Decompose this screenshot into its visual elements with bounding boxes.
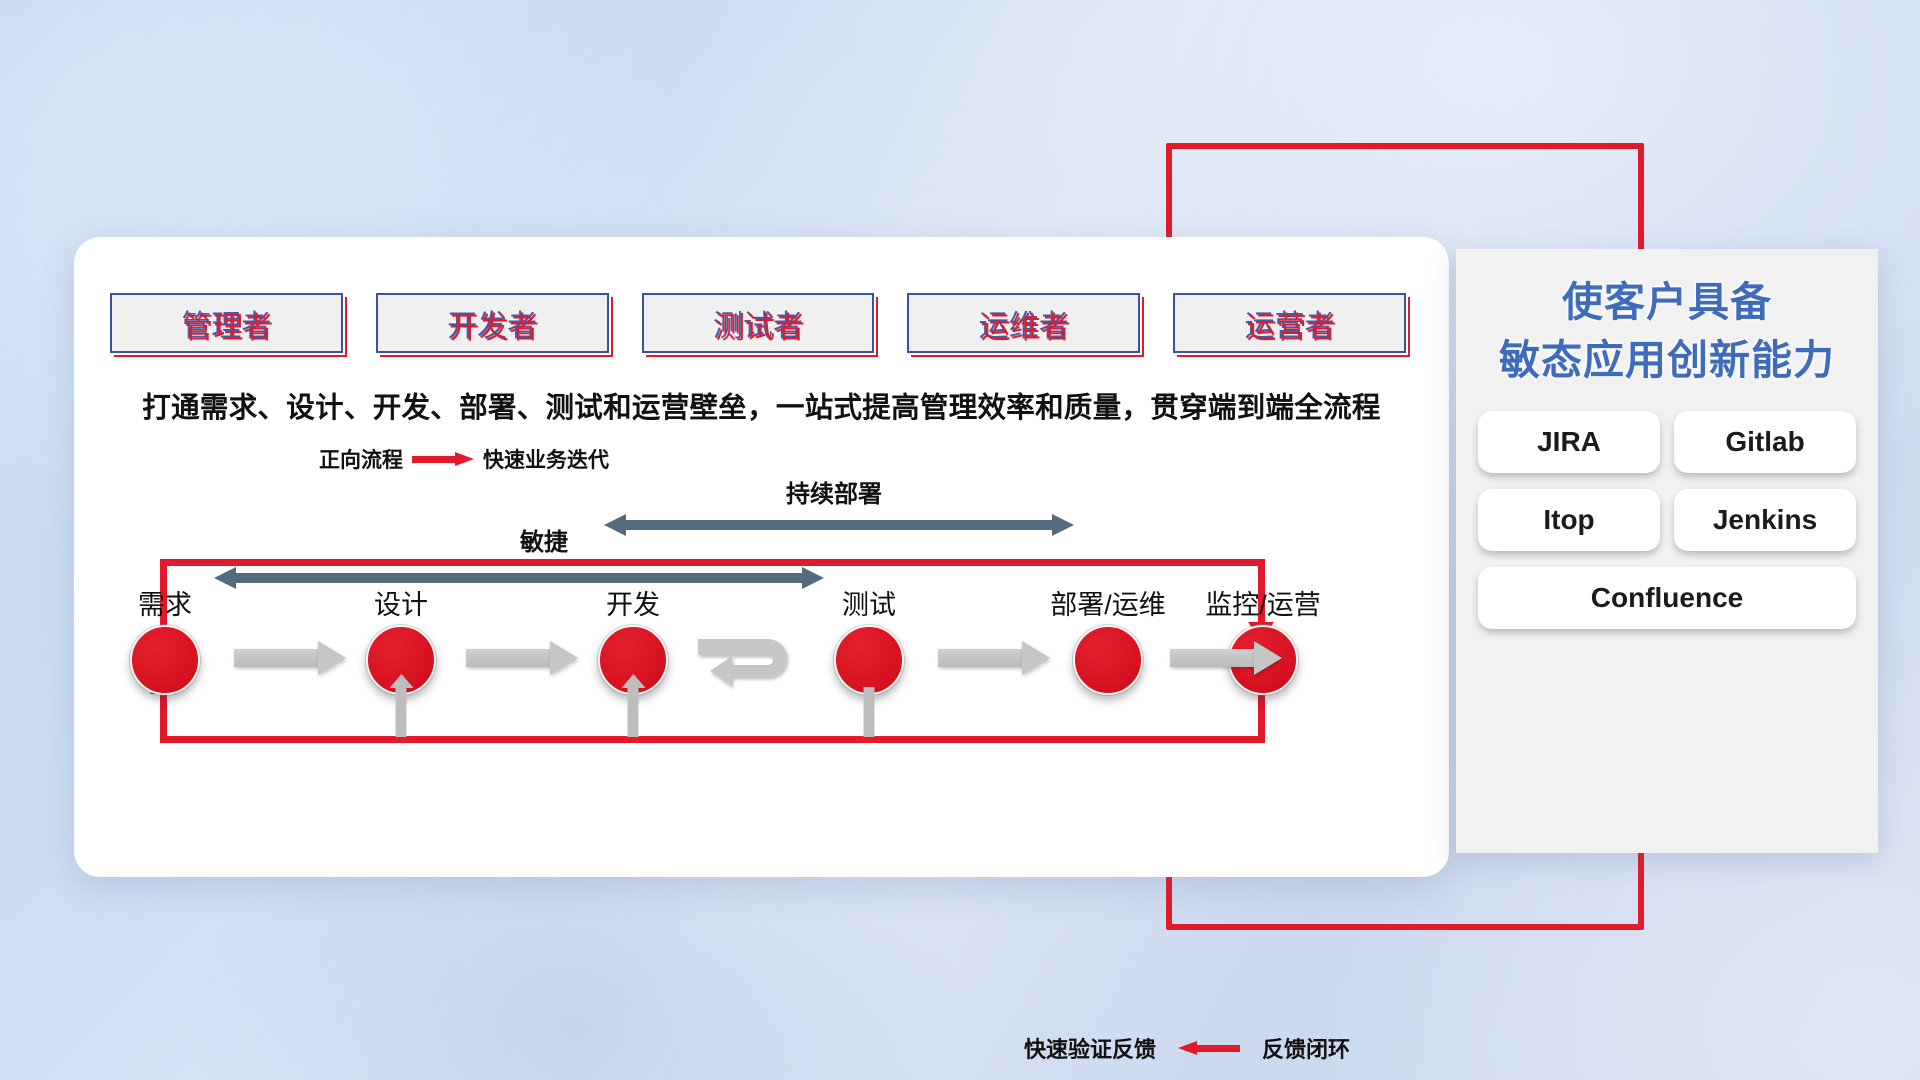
stage-deploy-ops[interactable]: 部署/运维 xyxy=(1073,625,1143,695)
stage-dot xyxy=(1073,625,1143,695)
tool-chip-itop[interactable]: Itop xyxy=(1478,489,1660,551)
panel-headline-line2: 敏态应用创新能力 xyxy=(1456,331,1878,389)
stage-testing[interactable]: 测试 xyxy=(834,625,904,695)
stage-label: 监控/运营 xyxy=(1205,583,1321,622)
stage-requirement[interactable]: 需求 xyxy=(130,625,200,695)
stage-development[interactable]: 开发 xyxy=(598,625,668,695)
stage-dot xyxy=(130,625,200,695)
capability-panel: 使客户具备 敏态应用创新能力 JIRA Gitlab Itop Jenkins … xyxy=(1456,249,1878,853)
stage-design[interactable]: 设计 xyxy=(366,625,436,695)
stage-label: 部署/运维 xyxy=(1050,583,1166,622)
legend-feedback-left-label: 快速验证反馈 xyxy=(1024,1032,1156,1064)
tool-chip-list: JIRA Gitlab Itop Jenkins Confluence xyxy=(1456,389,1878,629)
tool-chip-jira[interactable]: JIRA xyxy=(1478,411,1660,473)
flow-arrow-icon-4 xyxy=(938,641,1050,675)
tool-chip-confluence[interactable]: Confluence xyxy=(1478,567,1856,629)
legend-feedback-loop: 快速验证反馈 反馈闭环 xyxy=(1024,1032,1350,1064)
panel-headline: 使客户具备 敏态应用创新能力 xyxy=(1456,249,1878,389)
stage-label: 需求 xyxy=(138,583,192,622)
main-diagram-card: 管理者 开发者 测试者 运维者 运营者 打通需求、设计、开发、部署、测试和运营壁… xyxy=(74,237,1449,877)
tool-chip-jenkins[interactable]: Jenkins xyxy=(1674,489,1856,551)
flow-arrow-icon-1 xyxy=(234,641,346,675)
stage-label: 测试 xyxy=(842,583,896,622)
flow-arrow-icon-5 xyxy=(1170,641,1282,675)
stage-dot xyxy=(834,625,904,695)
gray-stem-up-icon xyxy=(628,687,639,737)
gray-stem-icon xyxy=(864,687,875,737)
stage-label: 设计 xyxy=(374,583,428,622)
stage-label: 开发 xyxy=(606,583,660,622)
legend-feedback-right-label: 反馈闭环 xyxy=(1262,1032,1350,1064)
tool-chip-gitlab[interactable]: Gitlab xyxy=(1674,411,1856,473)
loop-back-arrow-icon xyxy=(684,629,824,699)
panel-headline-line1: 使客户具备 xyxy=(1456,273,1878,331)
arrow-left-icon xyxy=(1178,1041,1240,1055)
stage-row: 需求 设计 开发 测试 部署/运维 监控/运营 xyxy=(74,237,1449,877)
gray-stem-up-icon xyxy=(396,687,407,737)
flow-arrow-icon-2 xyxy=(466,641,578,675)
